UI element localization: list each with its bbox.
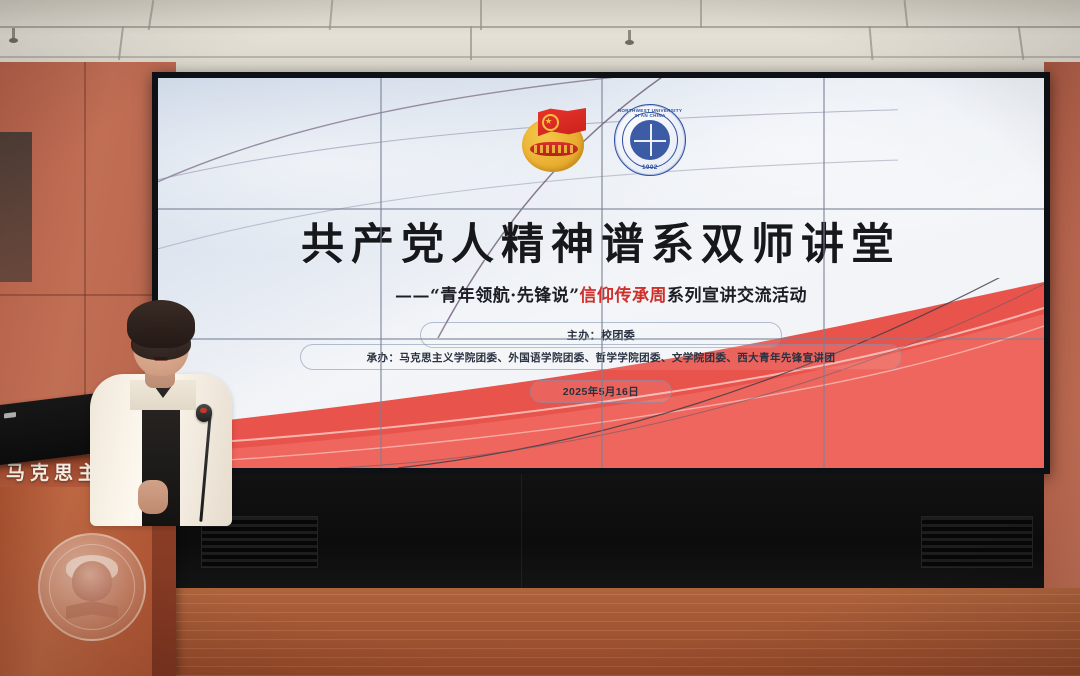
sprinkler-head	[10, 28, 17, 44]
under-screen-panel	[176, 474, 1044, 588]
communist-youth-league-emblem-icon	[516, 106, 590, 174]
speaker-hand	[138, 480, 168, 514]
bezel-seam-vertical	[601, 78, 603, 468]
bezel-seam-vertical	[380, 78, 382, 468]
marx-portrait-seal-icon	[38, 533, 146, 641]
northwest-university-seal-icon: NORTHWEST UNIVERSITY XI'AN CHINA 1902	[614, 104, 686, 176]
speaker-person	[86, 296, 236, 526]
lecture-hall-photo: NORTHWEST UNIVERSITY XI'AN CHINA 1902 共产…	[0, 0, 1080, 676]
presentation-slide: NORTHWEST UNIVERSITY XI'AN CHINA 1902 共产…	[158, 78, 1044, 468]
speaker-hair	[127, 300, 195, 348]
wall-shadow	[0, 132, 32, 282]
subtitle-highlight: 信仰传承周	[579, 286, 667, 306]
bezel-seam-vertical	[823, 78, 825, 468]
bezel-seam-horizontal	[158, 208, 1044, 210]
air-vent-grille	[921, 516, 1033, 568]
seal-year: 1902	[615, 165, 685, 171]
sprinkler-head	[626, 30, 633, 46]
subtitle-prefix: ——“青年领航·先锋说”	[395, 286, 579, 306]
microphone-icon	[196, 404, 212, 422]
subtitle-suffix: 系列宣讲交流活动	[667, 286, 807, 306]
video-wall-screen[interactable]: NORTHWEST UNIVERSITY XI'AN CHINA 1902 共产…	[152, 72, 1050, 474]
bezel-seam-horizontal	[158, 338, 1044, 340]
